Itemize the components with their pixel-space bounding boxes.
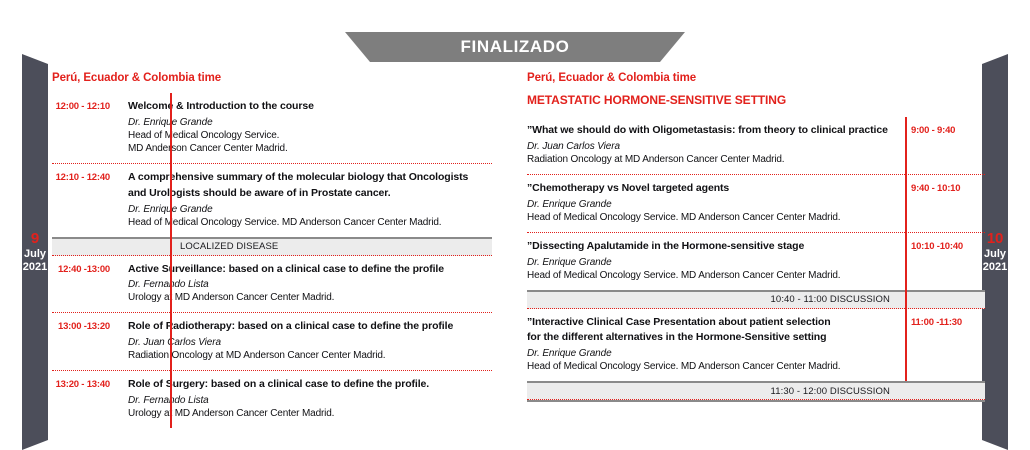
day-panel-left: 9 July 2021 [0,54,48,450]
session-body: ”Chemotherapy vs Novel targeted agentsDr… [527,182,899,224]
session-row: 13:00 -13:20Role of Radiotherapy: based … [52,312,492,370]
session-row: ”Dissecting Apalutamide in the Hormone-s… [527,232,985,290]
session-affiliation: MD Anderson Cancer Center Madrid. [128,142,492,155]
discussion-band: 11:30 - 12:00 DISCUSSION [527,381,985,400]
session-speaker: Dr. Enrique Grande [527,347,889,360]
session-time: 13:20 - 13:40 [52,378,118,420]
session-time: 12:00 - 12:10 [52,100,118,155]
agenda-column-day-9: Perú, Ecuador & Colombia time 12:00 - 12… [52,72,492,428]
band-label: 11:30 - 12:00 DISCUSSION [771,387,985,397]
agenda-rows-right: ”What we should do with Oligometastasis:… [527,117,985,402]
session-speaker: Dr. Juan Carlos Viera [128,336,492,349]
session-speaker: Dr. Enrique Grande [128,116,492,129]
session-speaker: Dr. Juan Carlos Viera [527,140,889,153]
session-time: 12:10 - 12:40 [52,171,118,229]
session-time: 9:40 - 10:10 [899,182,985,224]
session-title: ”Chemotherapy vs Novel targeted agents [527,182,889,196]
day-month-left: July [24,248,46,261]
day-panel-left-inner: 9 July 2021 [0,54,48,450]
session-speaker: Dr. Enrique Grande [527,198,889,211]
status-banner: FINALIZADO [345,32,685,62]
session-row: ”Chemotherapy vs Novel targeted agentsDr… [527,174,985,232]
session-title: ”Dissecting Apalutamide in the Hormone-s… [527,240,889,254]
session-time: 11:00 -11:30 [899,316,985,374]
session-title: Role of Surgery: based on a clinical cas… [128,378,492,392]
session-affiliation: Urology at MD Anderson Cancer Center Mad… [128,407,492,420]
day-year-left: 2021 [23,261,47,274]
session-body: A comprehensive summary of the molecular… [118,171,492,229]
session-body: ”Interactive Clinical Case Presentation … [527,316,899,374]
column-divider-rule [905,117,907,381]
session-title: Active Surveillance: based on a clinical… [128,263,492,277]
agenda-poster: 9 July 2021 10 July 2021 FINALIZADO Perú… [0,0,1030,450]
session-row: 13:20 - 13:40Role of Surgery: based on a… [52,370,492,428]
session-title: ”Interactive Clinical Case Presentation … [527,316,889,330]
timezone-header-right: Perú, Ecuador & Colombia time [527,72,985,84]
session-title: for the different alternatives in the Ho… [527,331,889,345]
agenda-column-day-10: Perú, Ecuador & Colombia time METASTATIC… [527,72,985,402]
session-body: ”Dissecting Apalutamide in the Hormone-s… [527,240,899,282]
discussion-band: 10:40 - 11:00 DISCUSSION [527,290,985,309]
session-speaker: Dr. Enrique Grande [527,256,889,269]
session-affiliation: Head of Medical Oncology Service. [128,129,492,142]
session-affiliation: Head of Medical Oncology Service. MD And… [128,216,492,229]
day-panel-right-inner: 10 July 2021 [982,54,1030,450]
session-time: 12:40 -13:00 [52,263,118,305]
session-affiliation: Head of Medical Oncology Service. MD And… [527,269,889,282]
session-row: 12:00 - 12:10Welcome & Introduction to t… [52,93,492,163]
session-title: ”What we should do with Oligometastasis:… [527,124,889,138]
session-time: 10:10 -10:40 [899,240,985,282]
column-divider-rule [170,93,172,428]
band-label: 10:40 - 11:00 DISCUSSION [771,295,985,305]
timezone-header-left: Perú, Ecuador & Colombia time [52,72,492,84]
day-year-right: 2021 [983,261,1007,274]
session-title: and Urologists should be aware of in Pro… [128,187,492,201]
session-body: Role of Radiotherapy: based on a clinica… [118,320,492,362]
session-body: ”What we should do with Oligometastasis:… [527,124,899,166]
session-speaker: Dr. Enrique Grande [128,203,492,216]
day-month-right: July [984,248,1006,261]
session-title: Welcome & Introduction to the course [128,100,492,114]
status-badge: FINALIZADO [461,38,570,57]
session-row: 12:40 -13:00Active Surveillance: based o… [52,256,492,313]
session-body: Active Surveillance: based on a clinical… [118,263,492,305]
session-row: ”What we should do with Oligometastasis:… [527,117,985,174]
session-speaker: Dr. Fernando Lista [128,394,492,407]
session-speaker: Dr. Fernando Lista [128,278,492,291]
session-affiliation: Head of Medical Oncology Service. MD And… [527,360,889,373]
session-row: 12:10 - 12:40A comprehensive summary of … [52,163,492,237]
agenda-rows-left: 12:00 - 12:10Welcome & Introduction to t… [52,93,492,428]
session-title: Role of Radiotherapy: based on a clinica… [128,320,492,334]
session-affiliation: Head of Medical Oncology Service. MD And… [527,211,889,224]
day-number-left: 9 [31,230,39,248]
session-affiliation: Urology at MD Anderson Cancer Center Mad… [128,291,492,304]
band-label: LOCALIZED DISEASE [52,242,278,252]
section-heading-metastatic: METASTATIC HORMONE-SENSITIVE SETTING [527,93,985,107]
session-time: 13:00 -13:20 [52,320,118,362]
session-body: Role of Surgery: based on a clinical cas… [118,378,492,420]
section-band: LOCALIZED DISEASE [52,237,492,256]
session-title: A comprehensive summary of the molecular… [128,171,492,185]
column-bottom-rule [527,400,985,402]
day-number-right: 10 [987,230,1003,248]
session-affiliation: Radiation Oncology at MD Anderson Cancer… [527,153,889,166]
day-panel-right: 10 July 2021 [982,54,1030,450]
session-row: ”Interactive Clinical Case Presentation … [527,309,985,382]
session-affiliation: Radiation Oncology at MD Anderson Cancer… [128,349,492,362]
session-time: 9:00 - 9:40 [899,124,985,166]
session-body: Welcome & Introduction to the courseDr. … [118,100,492,155]
